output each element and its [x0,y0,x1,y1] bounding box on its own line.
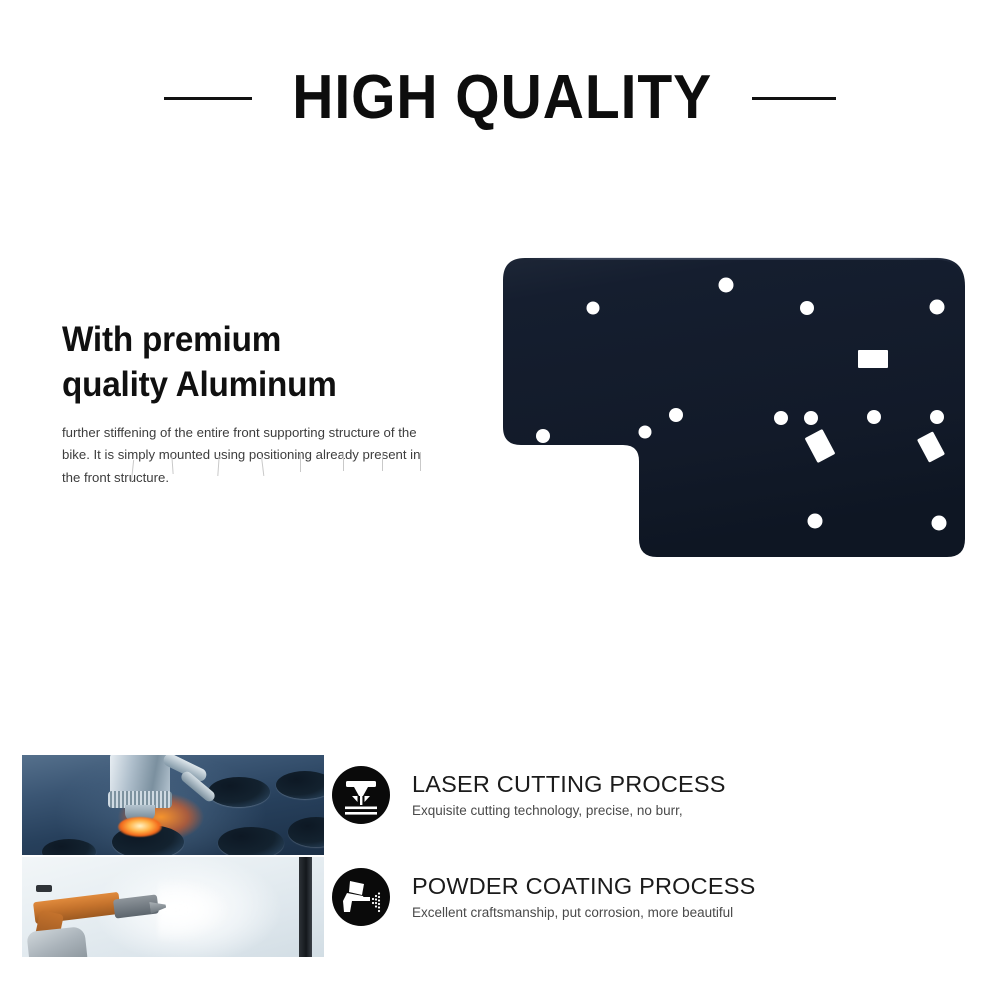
feature-subtitle: Exquisite cutting technology, precise, n… [412,804,726,818]
sheet-dimple [208,777,270,807]
feature-title: LASER CUTTING PROCESS [412,773,726,797]
powder-mist [158,871,288,949]
plate-body [503,258,965,557]
plate-hole [536,429,550,443]
hanging-hook [36,885,52,892]
booth-edge-strip [299,857,312,957]
sheet-dimple [218,827,284,855]
plate-hole [930,300,945,315]
plate-hole [804,411,818,425]
powder-coating-photo [22,857,324,957]
page-title: HIGH QUALITY [292,67,712,129]
plate-hole [587,302,600,315]
watermark-tick-marks [130,452,450,494]
plate-hole [808,514,823,529]
product-image [490,245,990,575]
header-rule-left [164,97,252,100]
copy-heading-line1: With premium [62,318,433,363]
plate-hole [774,411,788,425]
laser-cutter-icon [332,766,390,824]
feature-title: POWDER COATING PROCESS [412,875,755,899]
feature-row-laser-cutting: LASER CUTTING PROCESS Exquisite cutting … [332,766,726,824]
process-feature-section: LASER CUTTING PROCESS Exquisite cutting … [0,752,1000,982]
laser-cutting-photo [22,755,324,855]
spray-gun-icon [332,868,390,926]
aluminum-plate-svg [490,245,990,575]
plate-hole [669,408,683,422]
page-header: HIGH QUALITY [0,62,1000,134]
plate-hole [639,426,652,439]
plate-rect-slot [858,350,888,368]
header-rule-right [752,97,836,100]
plate-hole [800,301,814,315]
feature-row-powder-coating: POWDER COATING PROCESS Excellent craftsm… [332,868,755,926]
feature-subtitle: Excellent craftsmanship, put corrosion, … [412,906,755,920]
laser-spark-glow [118,817,162,837]
plate-hole [932,516,947,531]
copy-heading-line2: quality Aluminum [62,363,433,408]
plate-hole [867,410,881,424]
plate-hole [930,410,944,424]
gloved-hand [26,926,87,957]
plate-hole [719,278,734,293]
